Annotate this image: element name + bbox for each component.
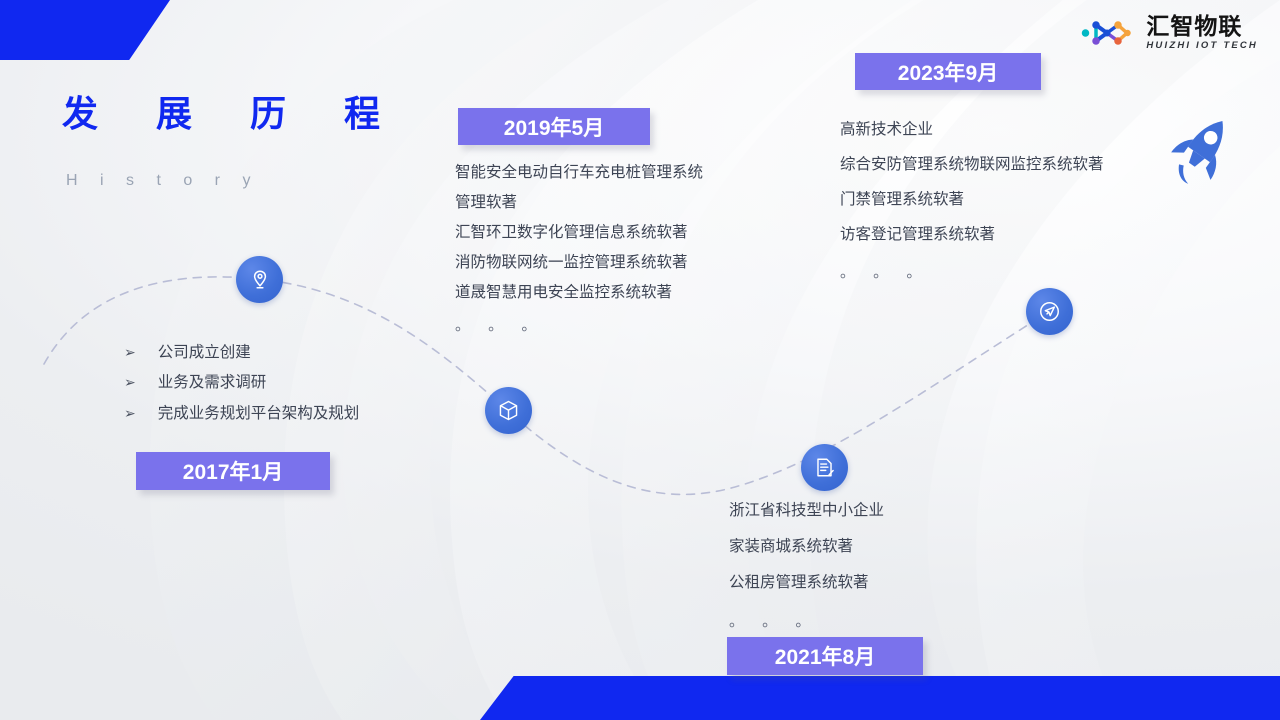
slide-canvas: 汇智物联 HUIZHI IOT TECH 发 展 历 程 H i s t o r… [0, 0, 1280, 720]
bullet-arrow-icon: ➢ [124, 344, 136, 362]
list-item: 家装商城系统软著 [729, 538, 884, 557]
list-item: ➢ 完成业务规划平台架构及规划 [124, 404, 359, 423]
list-item: 消防物联网统一监控管理系统软著 [455, 254, 703, 273]
molecule-network-icon [1081, 14, 1137, 52]
list-item-label: 完成业务规划平台架构及规划 [158, 404, 360, 423]
logo-name-cn: 汇智物联 [1146, 14, 1258, 38]
milestone-2019-content: 智能安全电动自行车充电桩管理系统 管理软著 汇智环卫数字化管理信息系统软著 消防… [455, 164, 703, 335]
paper-plane-icon [1037, 299, 1062, 324]
milestone-2017-content: ➢ 公司成立创建 ➢ 业务及需求调研 ➢ 完成业务规划平台架构及规划 [124, 343, 359, 434]
list-item: 公租房管理系统软著 [729, 574, 884, 593]
milestone-badge-2023[interactable]: 2023年9月 [855, 53, 1041, 90]
list-item: 道晟智慧用电安全监控系统软著 [455, 284, 703, 303]
bullet-arrow-icon: ➢ [124, 374, 136, 392]
list-item-label: 公司成立创建 [158, 343, 251, 362]
page-title: 发 展 历 程 [62, 96, 404, 132]
corner-accent-bottom-right [480, 676, 1280, 720]
list-item-label: 业务及需求调研 [158, 373, 267, 392]
logo-name-en: HUIZHI IOT TECH [1146, 40, 1258, 52]
list-item: 访客登记管理系统软著 [840, 226, 1104, 245]
timeline-marker-2017[interactable] [236, 256, 283, 303]
timeline-marker-2021[interactable] [801, 444, 848, 491]
list-item: 门禁管理系统软著 [840, 191, 1104, 210]
milestone-badge-2021[interactable]: 2021年8月 [727, 637, 923, 675]
list-item: 管理软著 [455, 194, 703, 213]
list-item: 浙江省科技型中小企业 [729, 502, 884, 521]
list-item: 汇智环卫数字化管理信息系统软著 [455, 224, 703, 243]
ellipsis-marker: 。 。 。 [729, 610, 884, 631]
ellipsis-marker: 。 。 。 [455, 314, 703, 335]
milestone-badge-2017[interactable]: 2017年1月 [136, 452, 330, 490]
timeline-marker-2019[interactable] [485, 387, 532, 434]
timeline-marker-2023[interactable] [1026, 288, 1073, 335]
milestone-2021-content: 浙江省科技型中小企业 家装商城系统软著 公租房管理系统软著 。 。 。 [729, 502, 884, 631]
bullet-arrow-icon: ➢ [124, 405, 136, 423]
rocket-icon [1160, 108, 1240, 198]
list-item: 智能安全电动自行车充电桩管理系统 [455, 164, 703, 183]
list-item: 高新技术企业 [840, 121, 1104, 140]
document-edit-icon [813, 456, 836, 479]
list-item: ➢ 公司成立创建 [124, 343, 359, 362]
location-pin-icon [248, 268, 272, 292]
cube-box-icon [497, 399, 520, 422]
page-subtitle: H i s t o r y [66, 172, 259, 190]
list-item: 综合安防管理系统物联网监控系统软著 [840, 156, 1104, 175]
list-item: ➢ 业务及需求调研 [124, 373, 359, 392]
company-logo: 汇智物联 HUIZHI IOT TECH [1081, 14, 1258, 52]
ellipsis-marker: 。 。 。 [840, 261, 1104, 282]
milestone-2023-content: 高新技术企业 综合安防管理系统物联网监控系统软著 门禁管理系统软著 访客登记管理… [840, 121, 1104, 282]
milestone-badge-2019[interactable]: 2019年5月 [458, 108, 650, 145]
